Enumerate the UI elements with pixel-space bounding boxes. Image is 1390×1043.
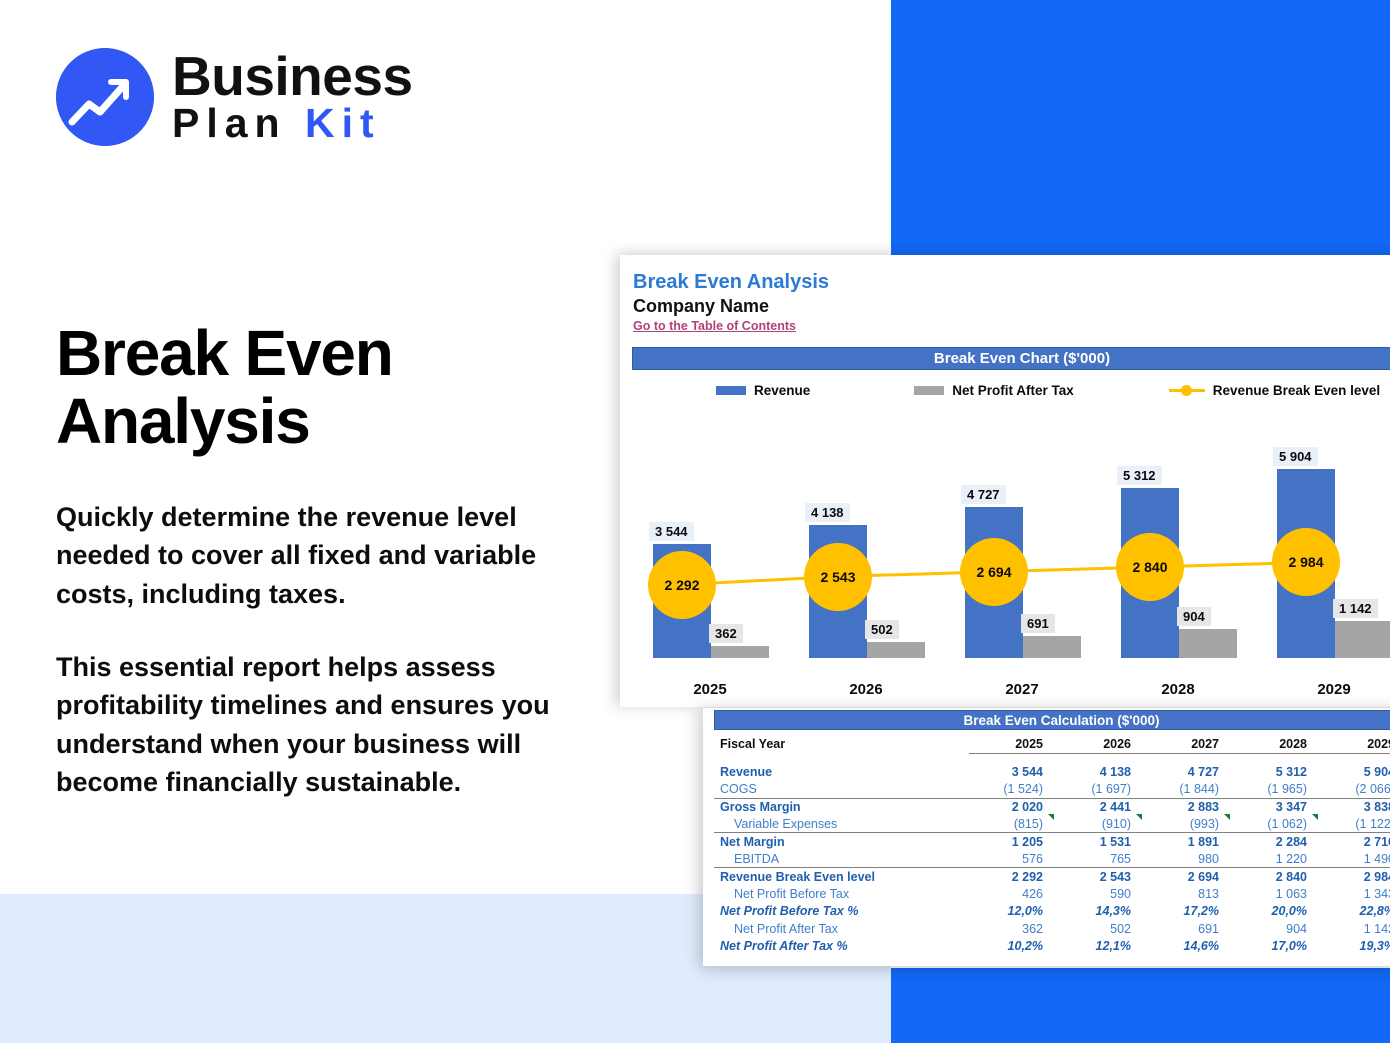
break-even-table: Fiscal Year 2025 2026 2027 2028 2029 Rev… bbox=[714, 736, 1390, 955]
table-row-label: Net Profit After Tax % bbox=[714, 937, 969, 954]
table-row-label: EBITDA bbox=[714, 850, 969, 867]
table-cell[interactable]: 691 bbox=[1145, 920, 1233, 937]
table-cell[interactable]: 19,3% bbox=[1321, 937, 1390, 954]
legend-label-break-even-level: Revenue Break Even level bbox=[1213, 383, 1380, 398]
table-cell[interactable]: 14,6% bbox=[1145, 937, 1233, 954]
intro-paragraph-2: This essential report helps assess profi… bbox=[56, 648, 566, 801]
table-cell[interactable]: 362 bbox=[969, 920, 1057, 937]
break-even-node[interactable]: 2 292 bbox=[648, 551, 716, 619]
table-cell[interactable]: 2 716 bbox=[1321, 833, 1390, 850]
table-row[interactable]: Variable Expenses(815)(910)(993)(1 062)(… bbox=[714, 816, 1390, 833]
table-cell[interactable]: 2 284 bbox=[1233, 833, 1321, 850]
sheet-title: Break Even Analysis bbox=[633, 271, 829, 294]
table-cell[interactable]: (2 066) bbox=[1321, 781, 1390, 798]
growth-arrow-circle-icon bbox=[56, 48, 154, 146]
logo-wordmark-line2: Plan Kit bbox=[172, 105, 413, 143]
table-cell[interactable]: (1 697) bbox=[1057, 781, 1145, 798]
table-cell[interactable]: 4 727 bbox=[1145, 763, 1233, 780]
table-col-header-2025: 2025 bbox=[969, 736, 1057, 753]
table-spacer-row bbox=[714, 753, 1390, 763]
table-cell[interactable]: 904 bbox=[1233, 920, 1321, 937]
table-col-header-2026: 2026 bbox=[1057, 736, 1145, 753]
table-cell[interactable]: 2 020 bbox=[969, 798, 1057, 815]
table-row[interactable]: Revenue Break Even level2 2922 5432 6942… bbox=[714, 868, 1390, 885]
table-row-label: Net Profit Before Tax bbox=[714, 885, 969, 902]
table-cell[interactable]: 1 343 bbox=[1321, 885, 1390, 902]
table-row-label: Net Margin bbox=[714, 833, 969, 850]
legend-item-break-even-level[interactable]: Revenue Break Even level bbox=[1169, 383, 1380, 398]
table-cell[interactable]: (910) bbox=[1057, 816, 1145, 833]
break-even-node[interactable]: 2 694 bbox=[960, 538, 1028, 606]
comment-marker-icon bbox=[1048, 814, 1054, 820]
table-cell[interactable]: 17,0% bbox=[1233, 937, 1321, 954]
table-cell[interactable]: 5 904 bbox=[1321, 763, 1390, 780]
table-cell[interactable]: 17,2% bbox=[1145, 903, 1233, 920]
table-cell[interactable]: (1 844) bbox=[1145, 781, 1233, 798]
table-row-label: Revenue bbox=[714, 763, 969, 780]
table-cell[interactable]: 1 531 bbox=[1057, 833, 1145, 850]
comment-marker-icon bbox=[1224, 814, 1230, 820]
table-body: Revenue3 5444 1384 7275 3125 904COGS(1 5… bbox=[714, 753, 1390, 954]
break-even-chart-card: Break Even Analysis Company Name Go to t… bbox=[620, 255, 1390, 707]
table-row-header-label: Fiscal Year bbox=[714, 736, 969, 753]
break-even-calculation-card: Break Even Calculation ($'000) Fiscal Ye… bbox=[703, 708, 1390, 966]
legend-label-net-profit-after-tax: Net Profit After Tax bbox=[952, 383, 1074, 398]
background-block-bottom-right bbox=[891, 968, 1390, 1043]
table-cell[interactable]: 12,0% bbox=[969, 903, 1057, 920]
table-cell[interactable]: 4 138 bbox=[1057, 763, 1145, 780]
comment-marker-icon bbox=[1312, 814, 1318, 820]
legend-swatch-revenue-icon bbox=[716, 386, 746, 395]
table-row-label: Revenue Break Even level bbox=[714, 868, 969, 885]
table-cell[interactable]: 576 bbox=[969, 850, 1057, 867]
page-title: Break Even Analysis bbox=[56, 320, 576, 456]
table-row[interactable]: COGS(1 524)(1 697)(1 844)(1 965)(2 066) bbox=[714, 781, 1390, 798]
table-cell[interactable]: 3 347 bbox=[1233, 798, 1321, 815]
table-row-label: Net Profit Before Tax % bbox=[714, 903, 969, 920]
table-cell[interactable]: 590 bbox=[1057, 885, 1145, 902]
table-cell[interactable]: (1 524) bbox=[969, 781, 1057, 798]
table-cell[interactable]: 2 441 bbox=[1057, 798, 1145, 815]
brand-logo: Business Plan Kit bbox=[56, 48, 413, 146]
legend-item-net-profit-after-tax[interactable]: Net Profit After Tax bbox=[914, 383, 1074, 398]
table-cell[interactable]: 980 bbox=[1145, 850, 1233, 867]
table-cell[interactable]: 20,0% bbox=[1233, 903, 1321, 920]
logo-wordmark-line1: Business bbox=[172, 51, 413, 102]
table-cell[interactable]: 1 142 bbox=[1321, 920, 1390, 937]
table-cell[interactable]: 2 292 bbox=[969, 868, 1057, 885]
legend-line-marker-icon bbox=[1169, 385, 1205, 395]
chart-plot-area: 3 544 362 2 292 2025 4 138 502 2 543 202… bbox=[632, 410, 1390, 700]
table-of-contents-link[interactable]: Go to the Table of Contents bbox=[633, 319, 796, 333]
table-cell[interactable]: 3 838 bbox=[1321, 798, 1390, 815]
table-cell[interactable]: (815) bbox=[969, 816, 1057, 833]
table-cell[interactable]: (993) bbox=[1145, 816, 1233, 833]
table-cell[interactable]: 12,1% bbox=[1057, 937, 1145, 954]
table-row[interactable]: Revenue3 5444 1384 7275 3125 904 bbox=[714, 763, 1390, 780]
chart-legend: Revenue Net Profit After Tax Revenue Bre… bbox=[632, 379, 1390, 401]
table-row[interactable]: EBITDA5767659801 2201 490 bbox=[714, 850, 1390, 867]
table-row-label: Variable Expenses bbox=[714, 816, 969, 833]
table-cell[interactable]: 3 544 bbox=[969, 763, 1057, 780]
table-cell[interactable]: 10,2% bbox=[969, 937, 1057, 954]
table-cell[interactable]: 1 891 bbox=[1145, 833, 1233, 850]
background-block-top-right bbox=[891, 0, 1390, 264]
table-col-header-2029: 2029 bbox=[1321, 736, 1390, 753]
table-cell[interactable]: 502 bbox=[1057, 920, 1145, 937]
table-row[interactable]: Net Margin1 2051 5311 8912 2842 716 bbox=[714, 833, 1390, 850]
table-cell[interactable]: (1 122) bbox=[1321, 816, 1390, 833]
table-cell[interactable]: 1 490 bbox=[1321, 850, 1390, 867]
table-cell[interactable]: (1 965) bbox=[1233, 781, 1321, 798]
table-cell[interactable]: 2 694 bbox=[1145, 868, 1233, 885]
table-cell[interactable]: 1 205 bbox=[969, 833, 1057, 850]
table-cell[interactable]: 2 543 bbox=[1057, 868, 1145, 885]
table-row-label: COGS bbox=[714, 781, 969, 798]
table-cell[interactable]: 14,3% bbox=[1057, 903, 1145, 920]
legend-swatch-net-profit-icon bbox=[914, 386, 944, 395]
table-cell[interactable]: 426 bbox=[969, 885, 1057, 902]
table-cell[interactable]: 2 883 bbox=[1145, 798, 1233, 815]
legend-label-revenue: Revenue bbox=[754, 383, 810, 398]
table-row[interactable]: Net Profit Before Tax %12,0%14,3%17,2%20… bbox=[714, 903, 1390, 920]
legend-item-revenue[interactable]: Revenue bbox=[716, 383, 810, 398]
table-col-header-2028: 2028 bbox=[1233, 736, 1321, 753]
table-cell[interactable]: 2 840 bbox=[1233, 868, 1321, 885]
table-col-header-2027: 2027 bbox=[1145, 736, 1233, 753]
table-cell[interactable]: 1 063 bbox=[1233, 885, 1321, 902]
table-row-label: Gross Margin bbox=[714, 798, 969, 815]
table-cell[interactable]: 765 bbox=[1057, 850, 1145, 867]
table-row[interactable]: Net Profit After Tax %10,2%12,1%14,6%17,… bbox=[714, 937, 1390, 954]
table-cell[interactable]: (1 062) bbox=[1233, 816, 1321, 833]
table-cell[interactable]: 813 bbox=[1145, 885, 1233, 902]
table-row[interactable]: Net Profit Before Tax4265908131 0631 343 bbox=[714, 885, 1390, 902]
table-cell[interactable]: 1 220 bbox=[1233, 850, 1321, 867]
table-header-row: Fiscal Year 2025 2026 2027 2028 2029 bbox=[714, 736, 1390, 753]
sheet-company-name: Company Name bbox=[633, 296, 769, 317]
table-title-banner: Break Even Calculation ($'000) bbox=[714, 710, 1390, 730]
intro-paragraph-1: Quickly determine the revenue level need… bbox=[56, 498, 566, 613]
table-row[interactable]: Net Profit After Tax3625026919041 142 bbox=[714, 920, 1390, 937]
comment-marker-icon bbox=[1136, 814, 1142, 820]
break-even-node[interactable]: 2 984 bbox=[1272, 528, 1340, 596]
table-cell[interactable]: 5 312 bbox=[1233, 763, 1321, 780]
break-even-node[interactable]: 2 543 bbox=[804, 543, 872, 611]
table-cell[interactable]: 2 984 bbox=[1321, 868, 1390, 885]
table-cell[interactable]: 22,8% bbox=[1321, 903, 1390, 920]
break-even-node[interactable]: 2 840 bbox=[1116, 533, 1184, 601]
table-row-label: Net Profit After Tax bbox=[714, 920, 969, 937]
chart-title-banner: Break Even Chart ($'000) bbox=[632, 347, 1390, 370]
